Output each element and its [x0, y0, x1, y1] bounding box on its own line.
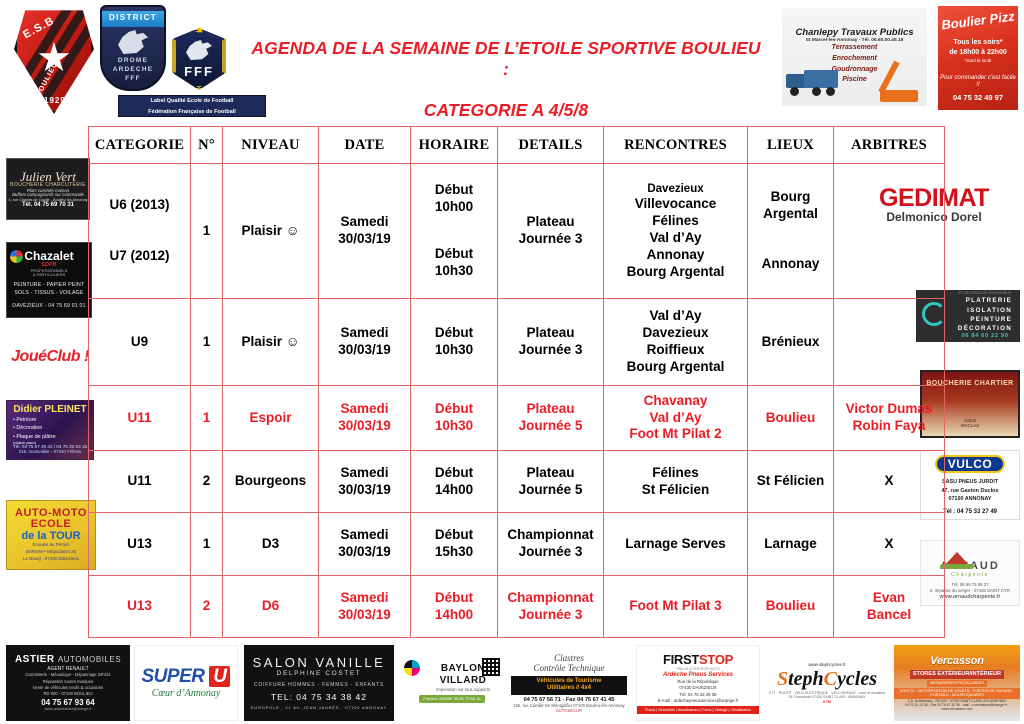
cell-lieux: Bourg Argental Annonay [748, 164, 834, 299]
ad-joueclub: JouéClub ! [6, 340, 94, 374]
district-logo: DISTRICT DROME ARDECHE FFF [100, 5, 166, 91]
firststop-name-first: FIRST [663, 652, 699, 667]
col-header-date: DATE [319, 127, 411, 164]
details-line1: Championnat [500, 590, 601, 607]
steph-brand-1: KTM [823, 700, 831, 704]
baylon-contact-name: Frédéric BARBE [423, 696, 452, 701]
cell-numero: 2 [191, 576, 223, 638]
cell-niveau: D3 [223, 513, 319, 576]
steph-name-teph: teph [788, 668, 824, 690]
cell-details: Championnat Journée 3 [498, 576, 604, 638]
cell-numero: 2 [191, 451, 223, 513]
rencontre-item: Val d’Ay [606, 410, 745, 427]
vulco-company: SASU PNEUS JURDIT [935, 478, 1006, 487]
rencontre-item: Val d’Ay [606, 308, 745, 325]
boulier-order: Pour commander c’est facile !! [938, 75, 1018, 88]
horaire-label: Début [413, 527, 495, 544]
cell-date: Samedi 30/03/19 [319, 386, 411, 451]
cell-arbitres: X [834, 513, 945, 576]
vanille-name: SALON VANILLE [253, 655, 386, 671]
table-row: U6 (2013) U7 (2012) 1 Plaisir ☺ Samedi 3… [89, 164, 945, 299]
horaire-bottom-label: Début [413, 246, 495, 263]
date-day: Samedi [321, 465, 408, 482]
fff-label-caption: Label Qualité Ecole de Football Fédérati… [118, 95, 266, 117]
astier-name: ASTIER [15, 654, 55, 665]
date-num: 30/03/19 [321, 544, 408, 561]
lieu-top-1: Bourg [750, 189, 831, 206]
district-line1: DROME [100, 57, 166, 66]
vercasson-bar-1: STORES EXTÉRIEUR/INTÉRIEUR [910, 670, 1004, 679]
horaire-value: 14h00 [413, 482, 495, 499]
col-header-rencontres: RENCONTRES [604, 127, 748, 164]
cell-details: Plateau Journée 5 [498, 451, 604, 513]
cordier-service-2: ISOLATION [958, 306, 1012, 315]
banner-clastres-controle-technique: Clastres Contrôle Technique Véhicules de… [508, 645, 630, 721]
cell-arbitres: Victor Dumas Robin Faya [834, 386, 945, 451]
cordier-service-1: PLATRERIE [958, 296, 1012, 305]
district-sub-labels: DROME ARDECHE FFF [100, 57, 166, 83]
date-num: 30/03/19 [321, 482, 408, 499]
arbitre-item: Bancel [836, 607, 942, 624]
cell-horaire: Début 14h00 [411, 576, 498, 638]
cell-lieux: Boulieu [748, 576, 834, 638]
fff-initials: FFF [172, 64, 226, 79]
district-band-label: DISTRICT [100, 13, 166, 22]
vanille-tel: TEL: 04 75 34 38 42 [271, 692, 367, 702]
cell-numero: 1 [191, 164, 223, 299]
rencontre-item: Bourg Argental [606, 359, 745, 376]
banner-salon-vanille: SALON VANILLE DELPHINE COSTET COIFFURE H… [244, 645, 394, 721]
chanlepy-service-1: Terrassement [795, 43, 913, 54]
details-line2: Journée 5 [500, 418, 601, 435]
clastres-bar-1: Véhicules de Tourisme [515, 678, 623, 685]
cell-categorie: U11 [89, 386, 191, 451]
esb-year: 1929 [44, 96, 66, 105]
horaire-value: 10h30 [413, 418, 495, 435]
details-line1: Championnat [500, 527, 601, 544]
cell-lieux: Boulieu [748, 386, 834, 451]
cell-categorie: U11 [89, 451, 191, 513]
cell-numero: 1 [191, 386, 223, 451]
banner-super-u: SUPER U Cœur d’Annonay [134, 645, 238, 721]
arbitre-item: Robin Faya [836, 418, 942, 435]
date-day: Samedi [321, 325, 408, 342]
agenda-table: CATEGORIE N° NIVEAU DATE HORAIRE DETAILS… [88, 126, 945, 638]
fff-caption-line1: Label Qualité Ecole de Football [119, 96, 265, 107]
cell-details: Plateau Journée 5 [498, 386, 604, 451]
cordier-service-3: PEINTURE [958, 315, 1012, 324]
ad-boulier-pizz: Boulier Pizz Tous les soirs* de 18h00 à … [938, 6, 1018, 110]
cell-rencontres: Davezieux Villevocance Félines Val d’Ay … [604, 164, 748, 299]
details-line2: Journée 3 [500, 544, 601, 561]
table-row: U11 2 Bourgeons Samedi 30/03/19 Début 14… [89, 451, 945, 513]
automoto-sub1: Ecoulee au Permis [15, 542, 87, 549]
banner-vercasson: Vercasson STORES EXTÉRIEUR/INTÉRIEUR MEN… [894, 645, 1020, 721]
rencontre-item: Roiffieux [606, 342, 745, 359]
details-line2: Journée 3 [500, 342, 601, 359]
banner-firststop: FIRSTSTOP PNEUS & SERVICES AUTO Ardèche … [636, 645, 760, 721]
horaire-label: Début [413, 325, 495, 342]
astier-tel: 04 75 67 93 64 [41, 698, 94, 708]
horaire-label: Début [413, 401, 495, 418]
truck-icon [786, 68, 838, 96]
cell-lieux: St Félicien [748, 451, 834, 513]
horaire-bottom-value: 10h30 [413, 263, 495, 280]
cordier-service-4: DÉCORATION [958, 324, 1012, 333]
steph-name-c: C [824, 668, 837, 690]
cell-numero: 1 [191, 299, 223, 386]
cell-niveau: Bourgeons [223, 451, 319, 513]
baylon-sub: Impression sur tous supports [436, 687, 490, 692]
sponsor-banner-strip: ASTIER AUTOMOBILES AGENT RENAULT Carross… [0, 642, 1024, 724]
esb-crest-logo: E.S.B BOULIEU 1929 [8, 4, 100, 116]
cell-rencontres: Félines St Félicien [604, 451, 748, 513]
date-day: Samedi [321, 590, 408, 607]
horaire-label: Début [413, 590, 495, 607]
table-row: U11 1 Espoir Samedi 30/03/19 Début 10h30… [89, 386, 945, 451]
chazalet-name: Chazalet [12, 250, 85, 263]
cell-arbitres [834, 299, 945, 386]
rencontre-item: Foot Mt Pilat 2 [606, 426, 745, 443]
cell-date: Samedi 30/03/19 [319, 451, 411, 513]
date-day: Samedi [321, 401, 408, 418]
table-header-row: CATEGORIE N° NIVEAU DATE HORAIRE DETAILS… [89, 127, 945, 164]
vercasson-name: Vercasson [930, 655, 983, 668]
cell-horaire: Début 10h30 [411, 299, 498, 386]
agenda-page: E.S.B BOULIEU 1929 DISTRICT DROME ARDECH… [0, 0, 1024, 724]
rencontre-item: Chavanay [606, 393, 745, 410]
cell-numero: 1 [191, 513, 223, 576]
pleinet-name: Didier PLEINET [13, 405, 87, 416]
ad-auto-moto-ecole-de-la-tour: AUTO-MOTO ECOLE de la TOUR Ecoulee au Pe… [6, 500, 96, 570]
horaire-value: 10h30 [413, 342, 495, 359]
steph-name-ycles: ycles [837, 668, 877, 690]
arbitre-item: Evan [836, 590, 942, 607]
rencontre-item: Davezieux [606, 182, 745, 196]
cell-arbitres [834, 164, 945, 299]
date-num: 30/03/19 [321, 231, 408, 248]
rencontre-item: Val d’Ay [606, 230, 745, 247]
banner-baylon-villard: BAYLON VILLARD Impression sur tous suppo… [400, 645, 504, 721]
rencontre-item: Félines [606, 213, 745, 230]
horaire-top-value: 10h00 [413, 199, 495, 216]
vanille-address: EUROPOLE - 21 AV. JEAN JAURÈS - 07100 AN… [251, 706, 387, 711]
ad-didier-pleinet: Didier PLEINET • Peinture • Décoration •… [6, 400, 94, 460]
cell-arbitres: Evan Bancel [834, 576, 945, 638]
cell-lieux: Larnage [748, 513, 834, 576]
chazalet-contact: DAVÉZIEUX - 04 75 69 01 01 [12, 302, 85, 310]
baylon-name-2: VILLARD [436, 675, 490, 687]
cell-horaire: Début 14h00 [411, 451, 498, 513]
cell-details: Championnat Journée 3 [498, 513, 604, 576]
color-wheel-icon [404, 660, 420, 676]
details-line1: Plateau [500, 465, 601, 482]
baylon-contact-tel: 06 80 73 66 46 [454, 696, 481, 701]
col-header-horaire: HORAIRE [411, 127, 498, 164]
joueclub-name: JouéClub ! [11, 349, 89, 366]
vulco-name: VULCO [935, 455, 1006, 474]
col-header-niveau: NIVEAU [223, 127, 319, 164]
cell-date: Samedi 30/03/19 [319, 299, 411, 386]
page-title-line1: AGENDA DE LA SEMAINE DE L’ETOILE SPORTIV… [250, 38, 762, 80]
firststop-email: E-mail : ardechepneusservices@orange.fr [658, 698, 738, 704]
page-title: AGENDA DE LA SEMAINE DE L’ETOILE SPORTIV… [250, 38, 762, 121]
cordier-tel: 06 84 60 22 90 [958, 333, 1012, 339]
date-num: 30/03/19 [321, 607, 408, 624]
firststop-services: Pneus | Géométrie | Amortisseurs | Frein… [637, 706, 759, 714]
details-line1: Plateau [500, 325, 601, 342]
firststop-name-stop: STOP [699, 652, 733, 667]
automoto-line3: de la TOUR [15, 531, 87, 543]
chazalet-line2: SOLS - TISSUS - VOILAGE [12, 289, 85, 297]
clastres-name-1: Clastres [554, 653, 584, 664]
cell-horaire: Début 10h30 [411, 386, 498, 451]
page-title-line2: CATEGORIE A 4/5/8 [250, 100, 762, 121]
clastres-badge: AUTOSECUR [556, 708, 582, 713]
cell-rencontres: Larnage Serves [604, 513, 748, 576]
fff-logo: FFF [172, 28, 226, 90]
cell-niveau: Plaisir ☺ [223, 164, 319, 299]
cell-categorie: U13 [89, 576, 191, 638]
details-line2: Journée 3 [500, 607, 601, 624]
details-line1: Plateau [500, 401, 601, 418]
cell-horaire: Début 15h30 [411, 513, 498, 576]
rencontre-item: Villevocance [606, 196, 745, 213]
qr-code-icon [482, 658, 500, 676]
horaire-value: 15h30 [413, 544, 495, 561]
cell-horaire: Début 10h00 Début 10h30 [411, 164, 498, 299]
steph-name-s: S [777, 668, 788, 690]
boulier-tel: 04 75 32 49 97 [938, 94, 1018, 102]
categorie-u6: U6 (2013) [91, 197, 188, 214]
vercasson-tel: 04 75 32 13 36 - Fax 04 75 67 32 36 - ma… [894, 703, 1020, 711]
firststop-company: Ardèche Pneus Services [663, 672, 733, 679]
superu-name: SUPER [142, 666, 205, 687]
date-num: 30/03/19 [321, 418, 408, 435]
cell-categorie: U13 [89, 513, 191, 576]
excavator-icon [880, 60, 922, 102]
superu-letter: U [209, 666, 230, 687]
categorie-u7: U7 (2012) [91, 248, 188, 265]
cell-niveau: D6 [223, 576, 319, 638]
vulco-address-1: 47, rue Gaston Duclos [935, 487, 1006, 496]
vanille-line: COIFFURE HOMMES - FEMMES - ENFANTS [254, 682, 384, 688]
vercasson-bar-2: MENUISERIES PVC/ALU/BOIS [927, 680, 987, 687]
col-header-arbitres: ARBITRES [834, 127, 945, 164]
col-header-categorie: CATEGORIE [89, 127, 191, 164]
table-row: U13 2 D6 Samedi 30/03/19 Début 14h00 Cha… [89, 576, 945, 638]
horaire-label: Début [413, 465, 495, 482]
district-line2: ARDECHE [100, 66, 166, 75]
cell-categorie: U6 (2013) U7 (2012) [89, 164, 191, 299]
col-header-lieux: LIEUX [748, 127, 834, 164]
table-row: U13 1 D3 Samedi 30/03/19 Début 15h30 Cha… [89, 513, 945, 576]
horaire-top-label: Début [413, 182, 495, 199]
cell-date: Samedi 30/03/19 [319, 513, 411, 576]
chazalet-color-wheel-icon [10, 250, 23, 263]
ad-julien-vert: Julien Vert BOUCHERIE CHARCUTERIE Plats … [6, 158, 90, 220]
cell-details: Plateau Journée 3 [498, 299, 604, 386]
district-line3: FFF [100, 75, 166, 84]
rencontre-item: Davezieux [606, 325, 745, 342]
details-line2: Journée 3 [500, 231, 601, 248]
col-header-numero: N° [191, 127, 223, 164]
cell-details: Plateau Journée 3 [498, 164, 604, 299]
lieu-bottom: Annonay [750, 256, 831, 273]
chazalet-line1: PEINTURE - PAPIER PEINT [12, 281, 85, 289]
date-day: Samedi [321, 527, 408, 544]
automoto-sub2: BSR/AM • Négociation 20 [15, 549, 87, 556]
vulco-tel: Tél : 04 75 33 27 49 [935, 509, 1006, 515]
pleinet-service-2: • Décoration [13, 424, 87, 433]
vulco-address-2: 07100 ANNONAY [935, 495, 1006, 504]
banner-steph-cycles: www.stephcycles.fr StephCycles VTT - ROU… [766, 645, 888, 721]
boulier-title: Boulier Pizz [938, 9, 1018, 32]
cell-niveau: Espoir [223, 386, 319, 451]
baylon-contact: Frédéric BARBE 06 80 73 66 46 [419, 695, 484, 704]
cell-rencontres: Foot Mt Pilat 3 [604, 576, 748, 638]
boulier-hours-1: Tous les soirs* [938, 38, 1018, 49]
cell-date: Samedi 30/03/19 [319, 164, 411, 299]
date-num: 30/03/19 [321, 342, 408, 359]
boulier-note: *Sauf le lundi [938, 59, 1018, 64]
automoto-sub3: Le Bourg - 07430 Davezieux [15, 556, 87, 563]
table-row: U9 1 Plaisir ☺ Samedi 30/03/19 Début 10h… [89, 299, 945, 386]
cell-arbitres: X [834, 451, 945, 513]
col-header-details: DETAILS [498, 127, 604, 164]
vercasson-bar-3: VOLETS - MOTORISATION DE VOLETS - PORTES… [894, 688, 1020, 699]
details-line1: Plateau [500, 214, 601, 231]
astier-name-suffix: AUTOMOBILES [58, 655, 121, 664]
astier-web: astier.automobiles@orange.fr [45, 707, 92, 711]
julien-name: Julien Vert [9, 170, 88, 184]
horaire-value: 14h00 [413, 607, 495, 624]
cell-categorie: U9 [89, 299, 191, 386]
clastres-tel: 04 75 67 56 71 - Fax 04 75 67 41 45 [524, 697, 615, 704]
banner-astier-automobiles: ASTIER AUTOMOBILES AGENT RENAULT Carross… [6, 645, 130, 721]
vanille-sub: DELPHINE COSTET [277, 670, 362, 678]
cell-date: Samedi 30/03/19 [319, 576, 411, 638]
superu-sub: Cœur d’Annonay [152, 688, 221, 700]
rencontre-item: Bourg Argental [606, 264, 745, 281]
rencontre-item: Annonay [606, 247, 745, 264]
pleinet-service-1: • Peinture [13, 416, 87, 425]
arbitre-item: Victor Dumas [836, 401, 942, 418]
fff-caption-line2: Fédération Française de Football [119, 107, 265, 118]
cell-lieux: Brénieux [748, 299, 834, 386]
cell-niveau: Plaisir ☺ [223, 299, 319, 386]
cell-rencontres: Val d’Ay Davezieux Roiffieux Bourg Argen… [604, 299, 748, 386]
roof-icon [944, 548, 970, 566]
clastres-name-2: Contrôle Technique [534, 663, 605, 674]
cell-rencontres: Chavanay Val d’Ay Foot Mt Pilat 2 [604, 386, 748, 451]
chazalet-audience-2: & PARTICULIERS [12, 273, 85, 277]
rencontre-item: St Félicien [606, 482, 745, 499]
pleinet-address: 215, montvallier - 07340 Félines [13, 450, 87, 455]
details-line2: Journée 5 [500, 482, 601, 499]
clastres-bar-2: Utilitaires // 4x4 [515, 685, 623, 692]
rencontre-item: Félines [606, 465, 745, 482]
date-day: Samedi [321, 214, 408, 231]
lieu-top-2: Argental [750, 206, 831, 223]
chanlepy-title: Chanlepy Travaux Publics [795, 28, 913, 38]
julien-tel: Tél. 04 75 69 70 31 [9, 202, 88, 208]
